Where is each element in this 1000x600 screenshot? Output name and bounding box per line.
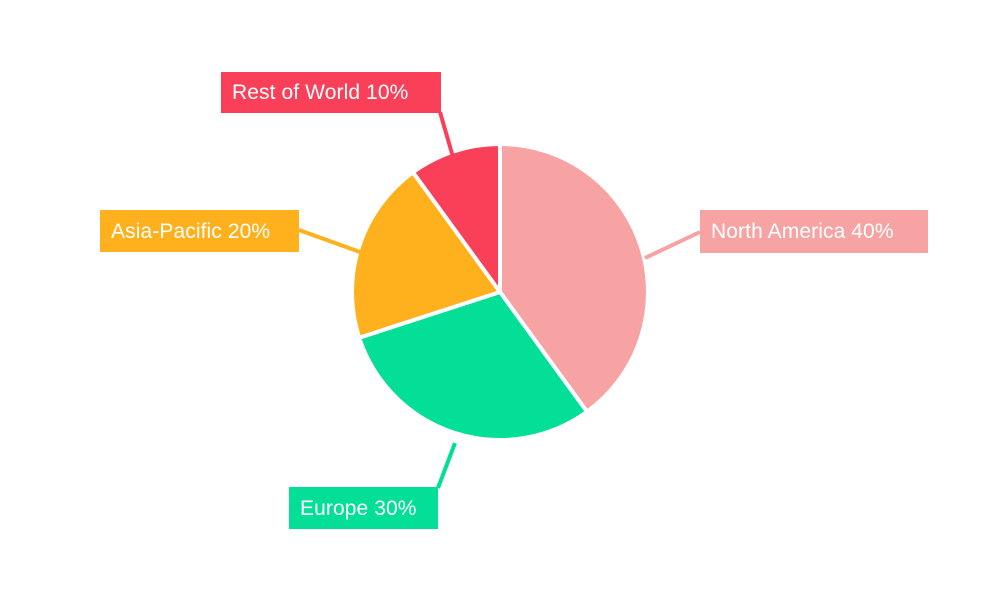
leader-line-north-america [645,232,700,258]
pie-label-europe-text: Europe 30% [300,498,417,519]
pie-label-north-america[interactable]: North America 40% [700,210,928,253]
pie-chart-figure: North America 40% Europe 30% Asia-Pacifi… [0,0,1000,600]
leader-line-europe [438,443,455,488]
pie-chart-canvas [0,0,1000,600]
pie-label-europe[interactable]: Europe 30% [289,487,438,529]
leader-line-rest-of-world [440,112,453,157]
pie-wedges [352,144,648,440]
pie-label-rest-of-world[interactable]: Rest of World 10% [221,72,441,113]
pie-label-asia-pacific[interactable]: Asia-Pacific 20% [100,210,299,252]
pie-label-rest-of-world-text: Rest of World 10% [232,82,408,103]
pie-label-asia-pacific-text: Asia-Pacific 20% [111,221,270,242]
pie-label-north-america-text: North America 40% [711,221,894,242]
leader-line-asia-pacific [299,230,360,252]
